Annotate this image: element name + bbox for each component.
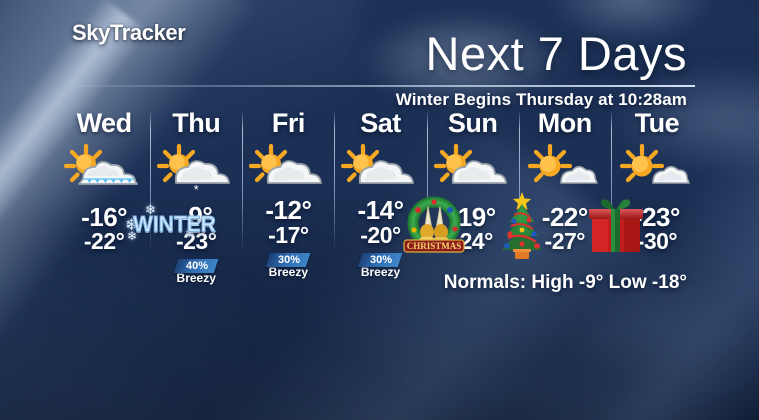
precip-probability-wrap: 30%	[268, 250, 308, 264]
sun-cloud-icon	[248, 143, 328, 189]
high-temperature: -14°	[358, 197, 404, 224]
header-subtitle: Winter Begins Thursday at 10:28am	[396, 90, 687, 110]
sun-cloud-icon	[433, 143, 513, 189]
high-temperature: -16°	[81, 204, 127, 231]
day-name: Sat	[360, 110, 401, 137]
day-name: Mon	[538, 110, 592, 137]
low-temperature: -20°	[360, 224, 400, 247]
high-temperature: -12°	[265, 197, 311, 224]
sun-cloud-icon	[340, 143, 420, 189]
day-name: Fri	[272, 110, 305, 137]
precip-probability-value: 40%	[186, 260, 208, 272]
day-temperatures: -16°-22°	[81, 204, 127, 254]
brand-logo: SkyTracker	[72, 20, 185, 46]
high-temperature: -9°	[180, 203, 212, 230]
wind-descriptor: Breezy	[269, 265, 308, 279]
forecast-day-column[interactable]: Thu *-9°-23°40%Breezy	[150, 108, 242, 268]
sun-small-cloud-icon	[527, 143, 603, 189]
normals-text: Normals: High -9° Low -18°	[444, 272, 687, 294]
christmas-wreath-graphic: CHRISTMAS	[398, 196, 470, 258]
wind-descriptor: Breezy	[177, 271, 216, 285]
low-temperature: -17°	[268, 224, 308, 247]
gift-box-graphic	[585, 196, 647, 256]
column-divider	[334, 110, 335, 252]
weather-forecast-graphic: SkyTracker Next 7 Days Winter Begins Thu…	[0, 0, 759, 420]
precip-probability-wrap: 40%	[176, 256, 216, 270]
day-temperatures: -14°-20°	[358, 197, 404, 247]
sun-cloud-flurries-icon	[63, 143, 145, 189]
asterisk-marker: *	[194, 187, 199, 193]
precip-probability-badge: 30%	[358, 253, 403, 267]
sun-small-cloud-icon	[619, 143, 695, 189]
wind-descriptor: Breezy	[361, 265, 400, 279]
column-divider	[242, 110, 243, 252]
precip-probability-value: 30%	[370, 254, 392, 266]
precip-probability-badge: 30%	[266, 253, 311, 267]
wreath-banner-text: CHRISTMAS	[407, 241, 462, 251]
precip-probability-wrap: 30%	[360, 250, 400, 264]
low-temperature: -23°	[176, 230, 216, 253]
forecast-day-column[interactable]: Fri -12°-17°30%Breezy	[242, 108, 334, 268]
header-divider	[64, 85, 695, 87]
day-name: Wed	[77, 110, 132, 137]
precip-probability-badge: 40%	[174, 259, 219, 273]
page-title: Next 7 Days	[426, 26, 687, 81]
day-name: Tue	[635, 110, 680, 137]
low-temperature: -27°	[545, 230, 585, 253]
day-name: Sun	[448, 110, 498, 137]
precip-probability-value: 30%	[278, 254, 300, 266]
low-temperature: -22°	[84, 230, 124, 253]
day-temperatures: -12°-17°	[265, 197, 311, 247]
day-temperatures: -9°-23°	[176, 203, 216, 253]
forecast-day-column[interactable]: Wed -16°-22°	[58, 108, 150, 268]
christmas-tree-graphic	[494, 190, 550, 262]
column-divider	[150, 110, 151, 252]
day-name: Thu	[172, 110, 220, 137]
